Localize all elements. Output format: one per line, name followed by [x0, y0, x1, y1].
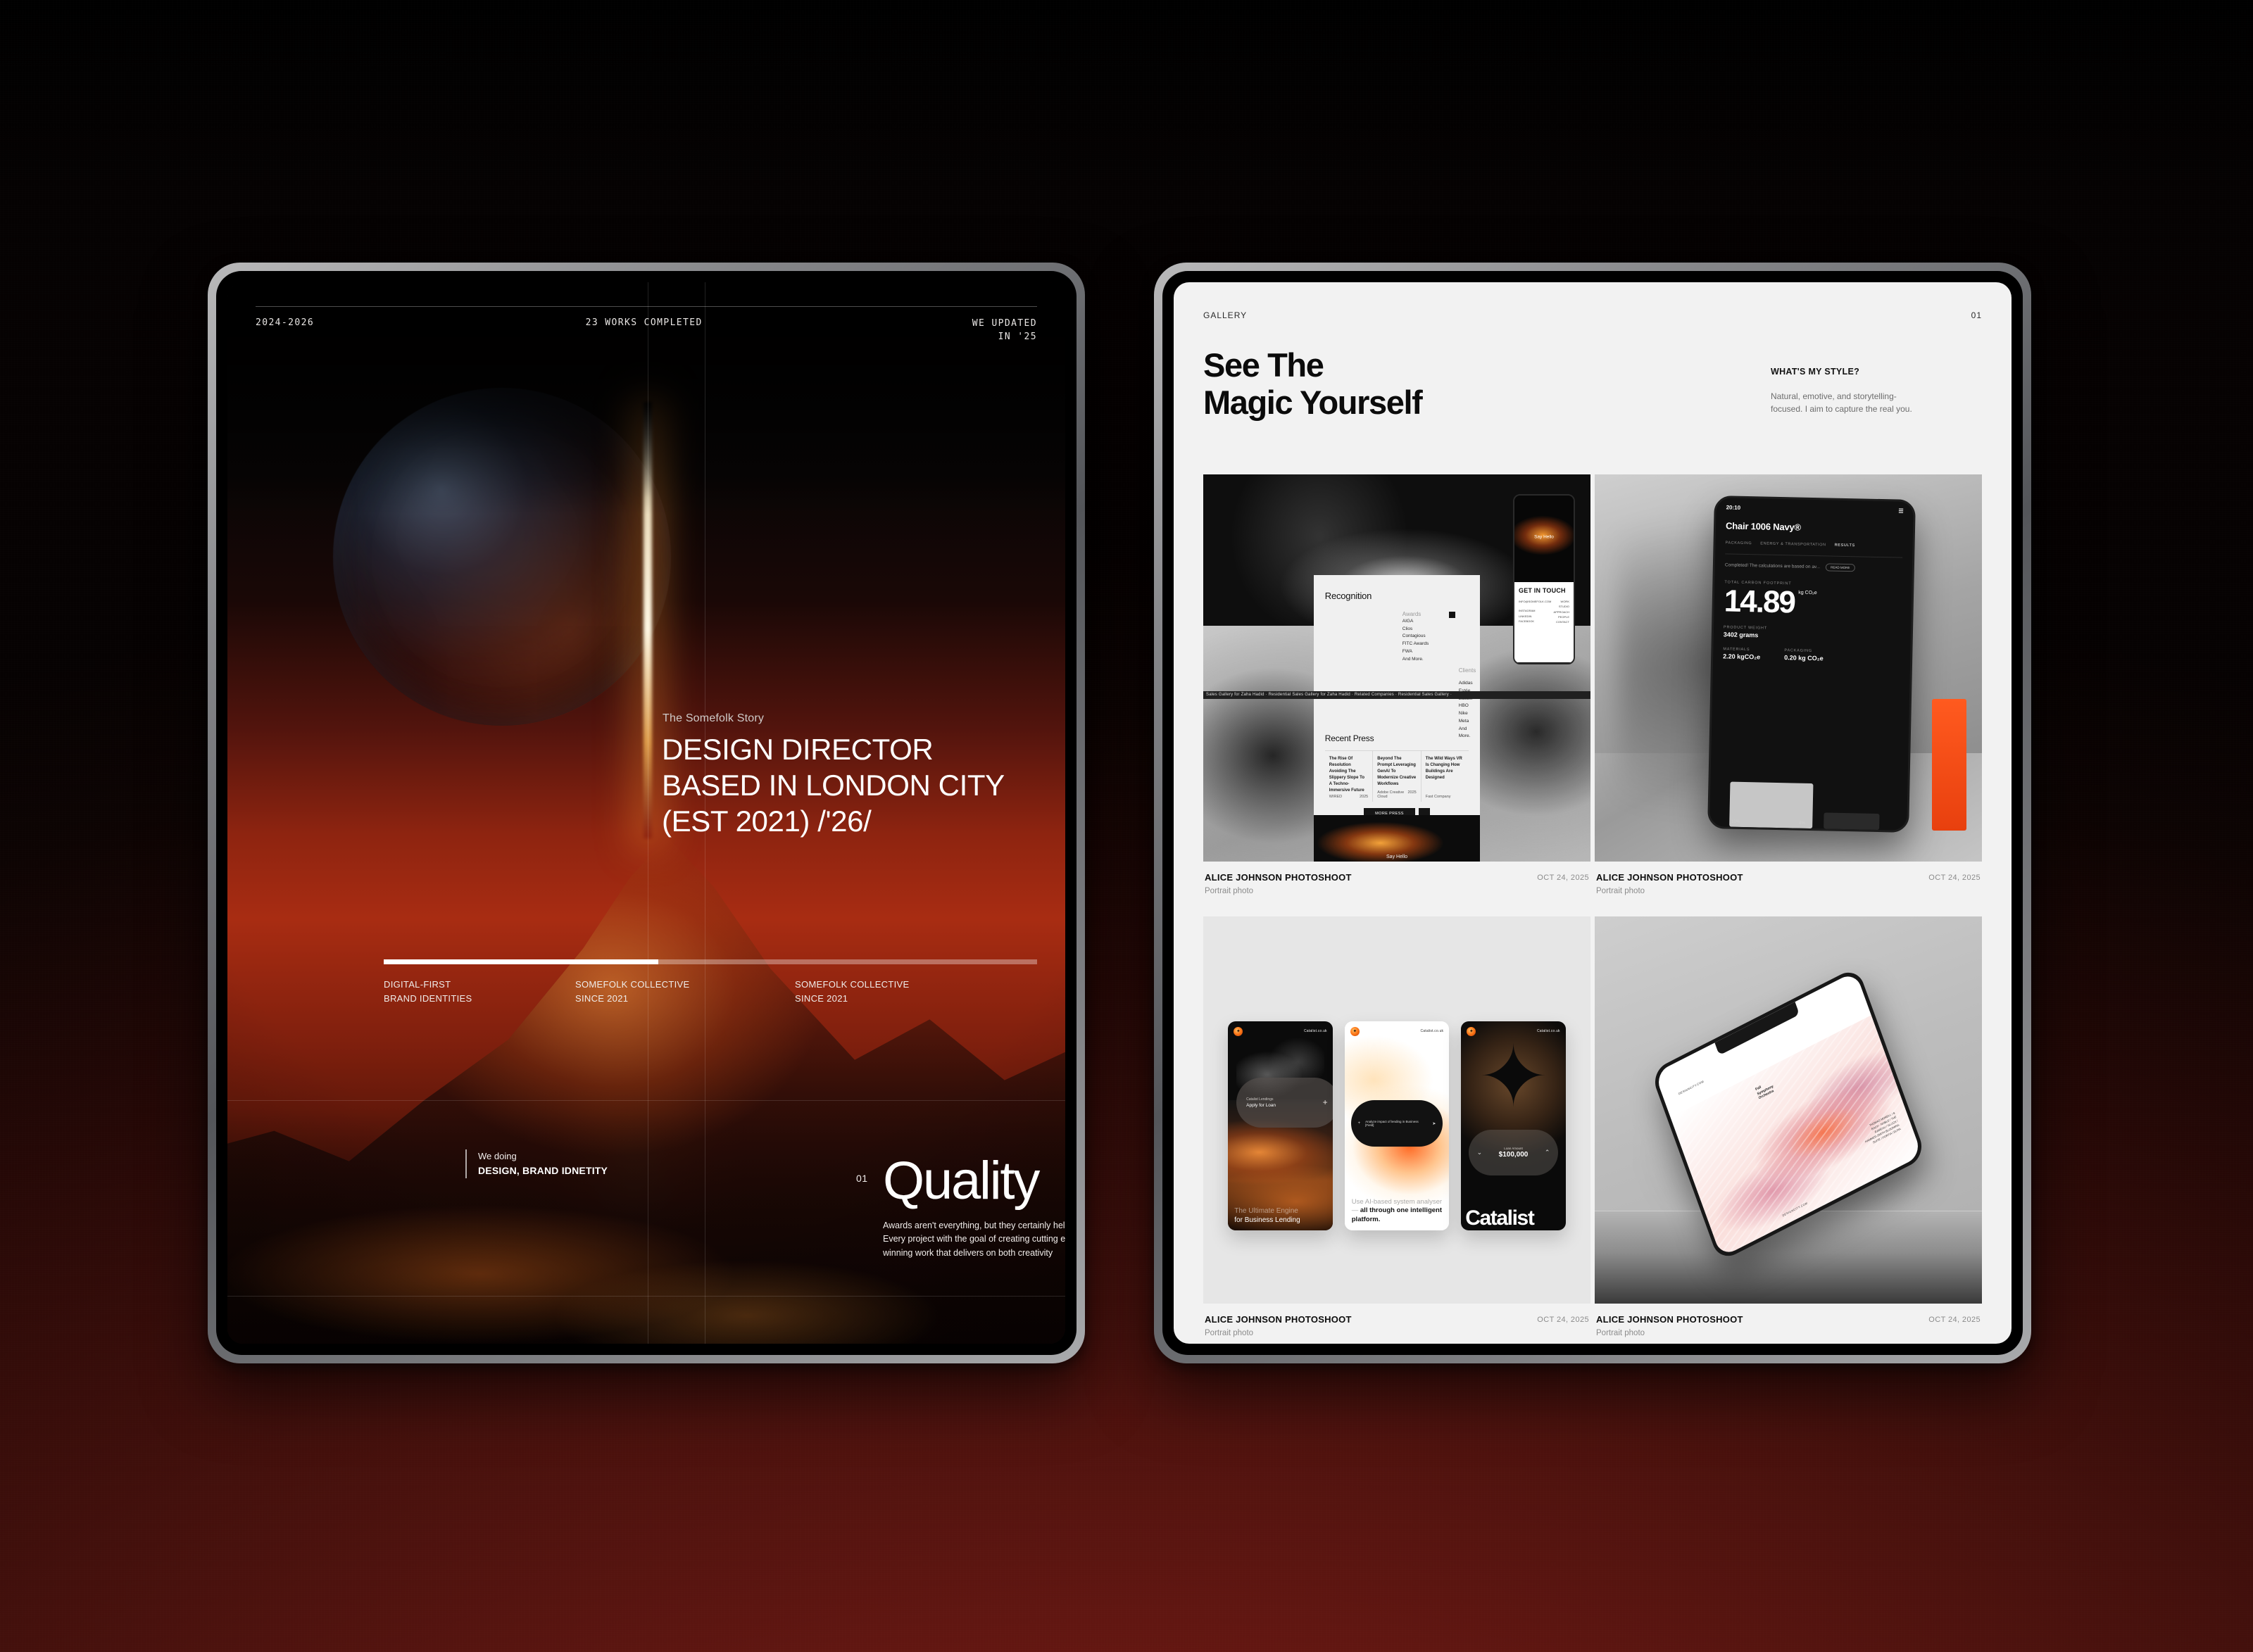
gallery-card-2[interactable]: 20:10 ☰ Chair 1006 Navy® PACKAGING ENERG…: [1595, 474, 1982, 916]
gallery-header: See The Magic Yourself WHAT'S MY STYLE? …: [1203, 347, 1982, 421]
product-title: Chair 1006 Navy®: [1716, 510, 1914, 535]
hero-top-rule: [256, 306, 1037, 307]
press-year: 2025: [1360, 795, 1368, 799]
tab-results[interactable]: RESULTS: [1835, 543, 1855, 548]
catalist-screen-apply: Catalist.co.uk Catalist Lendings Apply f…: [1228, 1021, 1333, 1230]
arrow-icon[interactable]: [1419, 808, 1430, 815]
aside-body: Natural, emotive, and storytelling- focu…: [1771, 390, 1982, 415]
breakdown-bars: [1709, 754, 1908, 831]
catalist-caption-b: Use AI-based system analyser — all throu…: [1352, 1198, 1443, 1225]
loan-amount-stepper[interactable]: ⌄ Loan Amount $100,000 ⌃: [1469, 1130, 1559, 1175]
gallery-grid: Recognition Awards AIGA Clios Contagious…: [1203, 474, 1982, 1323]
metric-number: 01: [856, 1173, 868, 1184]
menu-icon[interactable]: ☰: [1898, 508, 1903, 515]
loan-value: $100,000: [1499, 1151, 1529, 1159]
press-headline: The Wild Ways VR Is Changing How Buildin…: [1426, 756, 1465, 781]
awards-block: Awards AIGA Clios Contagious FITC Awards…: [1402, 611, 1469, 663]
caption-title: ALICE JOHNSON PHOTOSHOOT: [1205, 1314, 1352, 1325]
press-item[interactable]: Beyond The Prompt Leveraging GenAI To Mo…: [1373, 751, 1422, 802]
more-press-button[interactable]: MORE PRESS: [1364, 808, 1415, 815]
caption-left: ALICE JOHNSON PHOTOSHOOT Portrait photo: [1596, 872, 1743, 895]
thumb2-phone-mockup: 20:10 ☰ Chair 1006 Navy® PACKAGING ENERG…: [1707, 496, 1916, 833]
sheet-title: Recognition: [1325, 591, 1469, 601]
catalist-logo-icon: [1350, 1027, 1360, 1036]
gallery-aside: WHAT'S MY STYLE? Natural, emotive, and s…: [1771, 347, 1982, 421]
gallery-caption-4: ALICE JOHNSON PHOTOSHOOT Portrait photo …: [1595, 1304, 1982, 1344]
pill-eyebrow: Catalist Lendings: [1246, 1097, 1276, 1102]
plus-icon[interactable]: +: [1323, 1097, 1328, 1107]
phone-email[interactable]: INFO@SOMEFOLK.COM: [1519, 599, 1551, 604]
read-more-button[interactable]: READ MORE: [1826, 563, 1855, 572]
footprint-unit: kg CO₂e: [1798, 591, 1817, 596]
press-year: 2025: [1408, 790, 1417, 799]
mid-label-collective-1: SOMEFOLK COLLECTIVE SINCE 2021: [575, 978, 795, 1005]
tablet-device-right: GALLERY 01 See The Magic Yourself WHAT'S…: [1154, 263, 2031, 1363]
phone-contact-rows: INFO@SOMEFOLK.COM INSTAGRAM LINKEDIN FAC…: [1519, 599, 1569, 624]
note-text: Completed! The calculations are based on…: [1725, 562, 1820, 569]
gallery-page: GALLERY 01 See The Magic Yourself WHAT'S…: [1174, 282, 2012, 1344]
footprint-value-row: 14.89 kg CO₂e: [1724, 586, 1902, 620]
hero-eyebrow: The Somefolk Story: [663, 712, 764, 725]
aside-title: WHAT'S MY STYLE?: [1771, 367, 1982, 377]
caption-bold: for Business Lending: [1234, 1216, 1300, 1224]
catalist-url: Catalist.co.uk: [1420, 1029, 1443, 1033]
meta-years: 2024-2026: [256, 317, 314, 344]
press-footer: WIRED 2025: [1329, 795, 1369, 799]
catalist-header: Catalist.co.uk: [1350, 1027, 1444, 1036]
chevron-up-icon[interactable]: ⌃: [1545, 1149, 1550, 1156]
press-headline: The Rise Of Resolution Avoiding The Slip…: [1329, 756, 1369, 794]
awards-label: Awards: [1402, 611, 1422, 617]
gallery-thumbnail-4[interactable]: DESIGNCITY.COM Fall Symphony Orchestra T…: [1595, 916, 1982, 1304]
catalist-screen-ai: Catalist.co.uk + Analyze impact of lendi…: [1345, 1021, 1450, 1230]
tablet-device-left: 2024-2026 WE UPDATED IN '25 23 WORKS COM…: [208, 263, 1085, 1363]
press-footer: Fast Company: [1426, 795, 1465, 799]
phone-contact-left: INFO@SOMEFOLK.COM INSTAGRAM LINKEDIN FAC…: [1519, 599, 1551, 624]
thumb1-recent-press: Recent Press The Rise Of Resolution Avoi…: [1325, 733, 1469, 815]
caption-subtitle: Portrait photo: [1596, 1329, 1743, 1337]
phone-contact-panel: GET IN TOUCH INFO@SOMEFOLK.COM INSTAGRAM…: [1514, 582, 1574, 662]
gallery-heading: See The Magic Yourself: [1203, 347, 1654, 421]
footprint-value: 14.89: [1724, 586, 1795, 618]
ai-query-bar[interactable]: + Analyze impact of lending in Business …: [1351, 1100, 1443, 1146]
press-item[interactable]: The Wild Ways VR Is Changing How Buildin…: [1422, 751, 1469, 802]
catalist-screen-loan: Catalist.co.uk ⌄ Loan Amount $100,000 ⌃: [1461, 1021, 1566, 1230]
product-weight-block: PRODUCT WEIGHT 3402 grams: [1724, 625, 1901, 641]
phone-socials[interactable]: INSTAGRAM LINKEDIN FACEBOOK: [1519, 608, 1551, 624]
metric-word: Quality: [883, 1154, 1038, 1208]
breakdown-row: MATERIALS 2.20 kgCO₂e PACKAGING 0.20 kg …: [1723, 647, 1900, 663]
catalist-header: Catalist.co.uk: [1467, 1027, 1560, 1036]
caption-date: OCT 24, 2025: [1537, 1314, 1589, 1324]
status-time: 20:10: [1726, 504, 1741, 510]
caption-date: OCT 24, 2025: [1928, 1314, 1981, 1324]
press-headline: Beyond The Prompt Leveraging GenAI To Mo…: [1377, 756, 1417, 788]
packaging-block: PACKAGING 0.20 kg CO₂e: [1784, 648, 1824, 662]
gallery-topbar: GALLERY 01: [1203, 310, 1982, 320]
packaging-value: 0.20 kg CO₂e: [1784, 654, 1824, 662]
completion-note: Completed! The calculations are based on…: [1725, 553, 1902, 572]
we-doing-value: DESIGN, BRAND IDNETITY: [478, 1164, 608, 1178]
caption-left: ALICE JOHNSON PHOTOSHOOT Portrait photo: [1596, 1314, 1743, 1337]
awards-marker-icon: [1449, 612, 1455, 618]
mid-label-digital-first: DIGITAL-FIRST BRAND IDENTITIES: [384, 978, 575, 1005]
pill-action: Apply for Loan: [1246, 1103, 1276, 1108]
caption-left: ALICE JOHNSON PHOTOSHOOT Portrait photo: [1205, 1314, 1352, 1337]
meta-updated: WE UPDATED IN '25: [972, 317, 1037, 344]
mid-labels-row: DIGITAL-FIRST BRAND IDENTITIES SOMEFOLK …: [384, 978, 1037, 1005]
caption-date: OCT 24, 2025: [1928, 872, 1981, 882]
phone-nav[interactable]: WORK STUDIO APPROACH PEOPLE CONTACT: [1554, 599, 1569, 624]
tablet-bezel-left: 2024-2026 WE UPDATED IN '25 23 WORKS COM…: [216, 271, 1077, 1355]
gallery-label: GALLERY: [1203, 310, 1247, 320]
press-footer: Adobe Creative Cloud 2025: [1377, 790, 1417, 799]
mid-label-collective-2: SOMEFOLK COLLECTIVE SINCE 2021: [795, 978, 1015, 1005]
gallery-thumbnail-2[interactable]: 20:10 ☰ Chair 1006 Navy® PACKAGING ENERG…: [1595, 474, 1982, 862]
press-source: WIRED: [1329, 795, 1342, 799]
hero-section: 2024-2026 WE UPDATED IN '25 23 WORKS COM…: [227, 282, 1065, 1344]
thumb2-orange-accent: [1932, 699, 1967, 831]
bar-2-percent: 4%: [1799, 821, 1805, 826]
caption-subtitle: Portrait photo: [1205, 1329, 1352, 1337]
bar-1-percent: 10%: [1731, 820, 1740, 824]
press-source: Fast Company: [1426, 795, 1451, 799]
catalist-caption-a: The Ultimate Engine for Business Lending: [1234, 1206, 1326, 1225]
catalist-header: Catalist.co.uk: [1234, 1027, 1327, 1036]
clients-label: Clients: [1459, 667, 1476, 674]
metric-body: Awards aren't everything, but they certa…: [883, 1219, 1065, 1260]
progress-bar-track[interactable]: [384, 959, 1037, 964]
progress-bar-fill: [384, 959, 658, 964]
meta-works-completed: 23 WORKS COMPLETED: [586, 317, 703, 328]
ai-query-text: Analyze impact of lending in Business [F…: [1365, 1120, 1427, 1127]
caption-title: ALICE JOHNSON PHOTOSHOOT: [1205, 872, 1352, 883]
phone-get-in-touch[interactable]: GET IN TOUCH: [1519, 587, 1569, 594]
hero-content: 2024-2026 WE UPDATED IN '25 23 WORKS COM…: [227, 282, 1065, 1344]
caption-bold: all through one intelligent platform.: [1352, 1206, 1442, 1223]
clients-block: Clients Adidas Estée Lauder HBO Nike Met…: [1459, 667, 1469, 740]
flame-caption: Say Hello: [1386, 855, 1407, 859]
press-title: Recent Press: [1325, 733, 1469, 743]
gallery-card-1[interactable]: Recognition Awards AIGA Clios Contagious…: [1203, 474, 1590, 916]
tab-packaging[interactable]: PACKAGING: [1726, 541, 1752, 546]
phone-say-hello: Say Hello: [1534, 534, 1554, 539]
send-icon[interactable]: ➤: [1432, 1121, 1436, 1126]
gallery-card-3[interactable]: Catalist.co.uk Catalist Lendings Apply f…: [1203, 916, 1590, 1344]
thumb1-phone-mockup: Say Hello GET IN TOUCH INFO@SOMEFOLK.COM…: [1513, 494, 1575, 664]
caption-left: ALICE JOHNSON PHOTOSHOOT Portrait photo: [1205, 872, 1352, 895]
gallery-card-4[interactable]: DESIGNCITY.COM Fall Symphony Orchestra T…: [1595, 916, 1982, 1344]
gallery-caption-1: ALICE JOHNSON PHOTOSHOOT Portrait photo …: [1203, 862, 1590, 916]
catalist-wordmark: Catalist: [1465, 1208, 1566, 1229]
gallery-thumbnail-3[interactable]: Catalist.co.uk Catalist Lendings Apply f…: [1203, 916, 1590, 1304]
tablet-screen-left: 2024-2026 WE UPDATED IN '25 23 WORKS COM…: [227, 282, 1065, 1344]
phone-hero-flame: Say Hello: [1514, 496, 1574, 583]
thumb1-ticker: Sales Gallery for Zaha Hadid · Residenti…: [1203, 691, 1590, 699]
hero-title: DESIGN DIRECTOR BASED IN LONDON CITY (ES…: [662, 731, 1005, 840]
press-source: Adobe Creative Cloud: [1377, 790, 1407, 799]
clients-list: Adidas Estée Lauder HBO Nike Meta And Mo…: [1459, 680, 1469, 740]
catalist-url: Catalist.co.uk: [1537, 1029, 1560, 1033]
gallery-thumbnail-1[interactable]: Recognition Awards AIGA Clios Contagious…: [1203, 474, 1590, 862]
plus-icon[interactable]: +: [1358, 1121, 1361, 1125]
caption-dim: The Ultimate Engine: [1234, 1207, 1298, 1215]
press-columns: The Rise Of Resolution Avoiding The Slip…: [1325, 750, 1469, 802]
we-doing-label: We doing: [478, 1149, 608, 1164]
caption-subtitle: Portrait photo: [1205, 887, 1352, 895]
catalist-logo-icon: [1234, 1027, 1243, 1036]
we-doing-block: We doing DESIGN, BRAND IDNETITY: [465, 1149, 608, 1178]
press-more-row: MORE PRESS: [1325, 808, 1469, 815]
caption-subtitle: Portrait photo: [1596, 887, 1743, 895]
packaging-label: PACKAGING: [1784, 648, 1824, 653]
materials-label: MATERIALS: [1723, 647, 1760, 652]
caption-title: ALICE JOHNSON PHOTOSHOOT: [1596, 1314, 1743, 1325]
awards-list: AIGA Clios Contagious FITC Awards FWA An…: [1402, 618, 1469, 663]
gallery-caption-3: ALICE JOHNSON PHOTOSHOOT Portrait photo …: [1203, 1304, 1590, 1344]
gallery-page-number: 01: [1971, 310, 1982, 320]
apply-for-loan-pill[interactable]: Catalist Lendings Apply for Loan +: [1236, 1078, 1333, 1128]
tab-energy-transportation[interactable]: ENERGY & TRANSPORTATION: [1760, 541, 1826, 547]
chevron-down-icon[interactable]: ⌄: [1477, 1149, 1483, 1156]
caption-date: OCT 24, 2025: [1537, 872, 1589, 882]
materials-value: 2.20 kgCO₂e: [1723, 652, 1760, 660]
tablet-screen-right: GALLERY 01 See The Magic Yourself WHAT'S…: [1174, 282, 2012, 1344]
catalist-url: Catalist.co.uk: [1304, 1029, 1327, 1033]
press-item[interactable]: The Rise Of Resolution Avoiding The Slip…: [1325, 751, 1374, 802]
thumb3-phone-row: Catalist.co.uk Catalist Lendings Apply f…: [1203, 1021, 1590, 1230]
tablet-bezel-right: GALLERY 01 See The Magic Yourself WHAT'S…: [1162, 271, 2023, 1355]
thumb1-flame-strip: Say Hello: [1314, 815, 1481, 862]
gallery-caption-2: ALICE JOHNSON PHOTOSHOOT Portrait photo …: [1595, 862, 1982, 916]
caption-title: ALICE JOHNSON PHOTOSHOOT: [1596, 872, 1743, 883]
materials-block: MATERIALS 2.20 kgCO₂e: [1723, 647, 1760, 660]
loan-label: Loan Amount: [1499, 1147, 1529, 1150]
catalist-logo-icon: [1467, 1027, 1476, 1036]
poster-brand: DESIGNCITY.COM: [1678, 1079, 1704, 1095]
